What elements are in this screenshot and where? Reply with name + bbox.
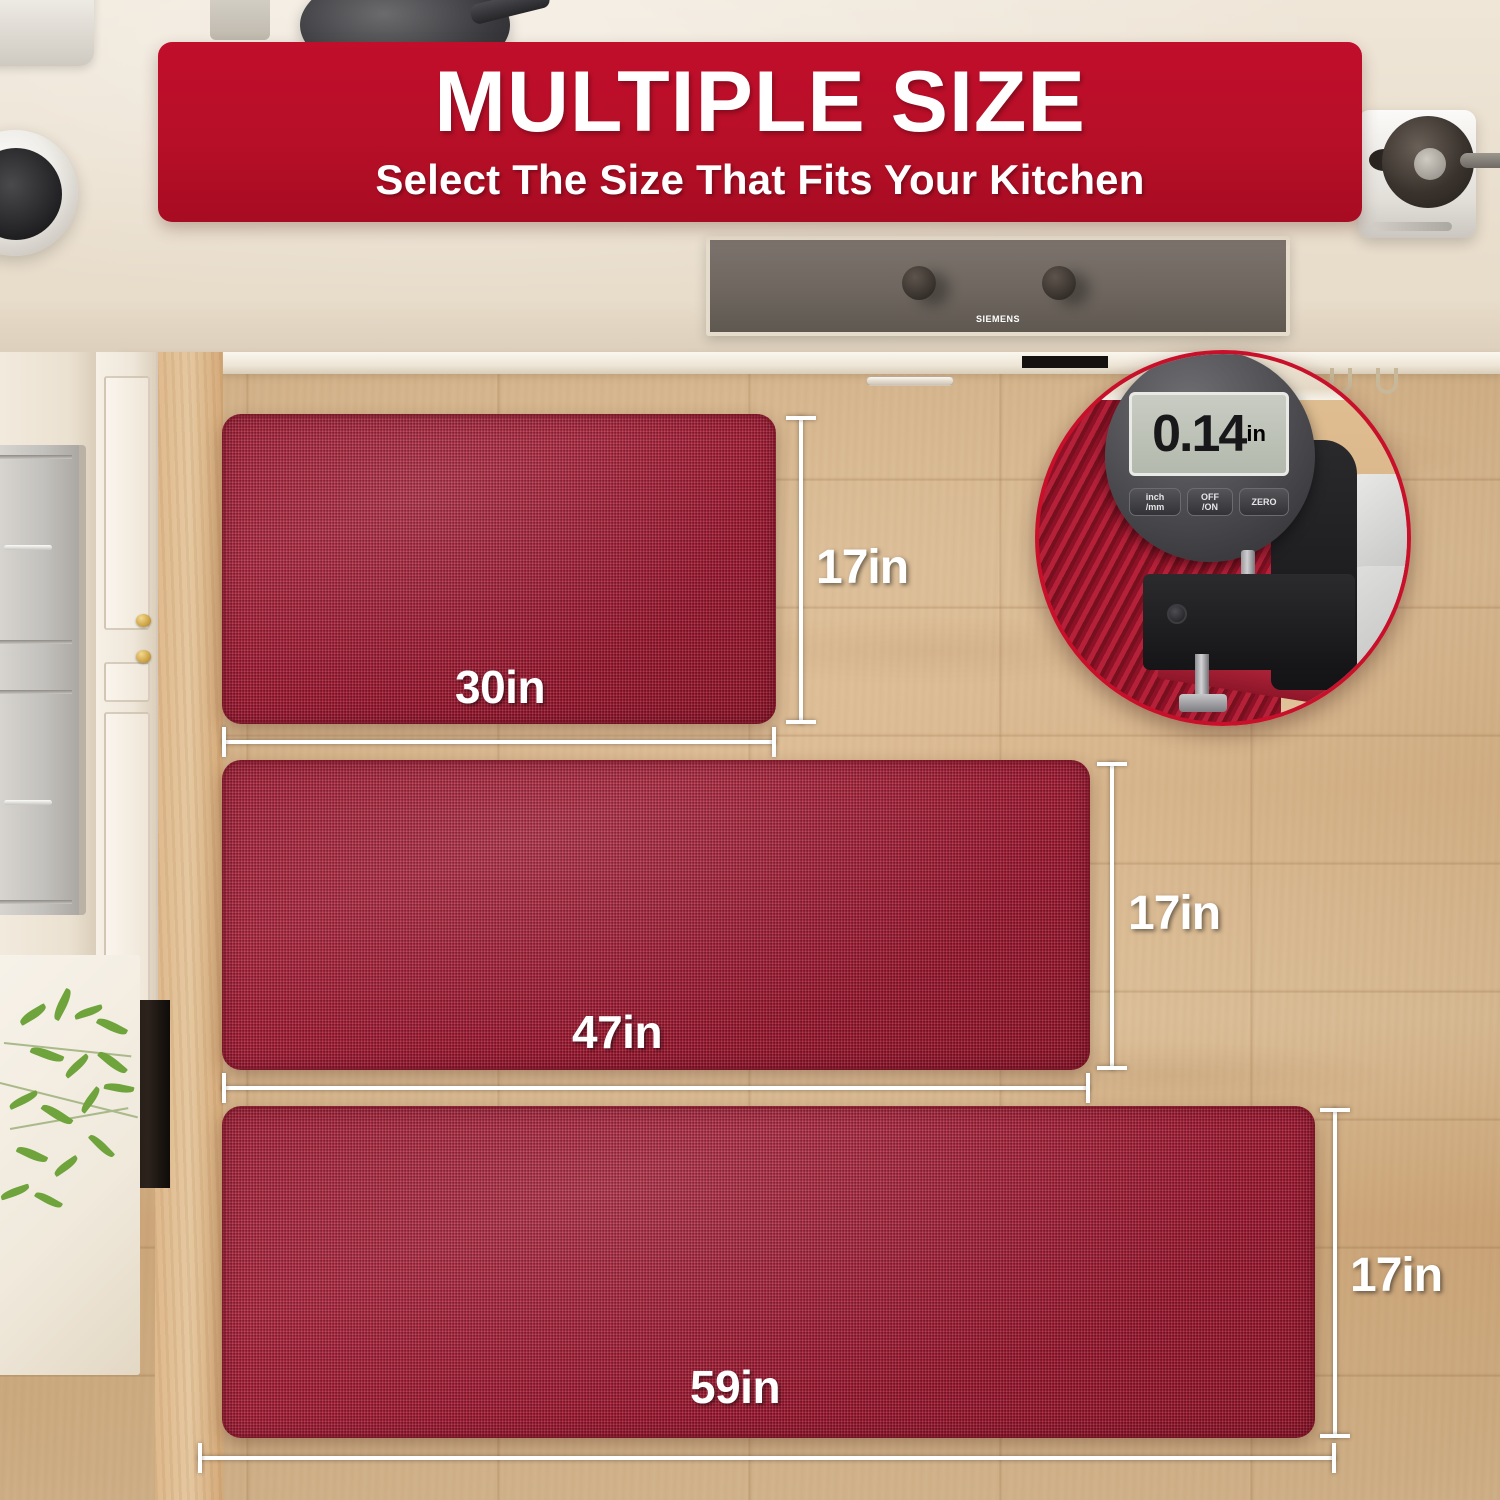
dimension-label-height-small: 17in [816, 540, 908, 595]
dimension-line-vertical-medium [1110, 762, 1114, 1070]
gauge-button-off-on[interactable]: OFF /ON [1187, 488, 1233, 516]
cabinet-knob [136, 650, 151, 663]
dimension-line-horizontal-large [198, 1456, 1336, 1460]
white-bowl [0, 0, 94, 66]
cooktop-knob [1042, 266, 1076, 300]
appliance-seam [0, 640, 72, 644]
thickness-gauge-display: 0.14 in [1129, 392, 1289, 476]
cabinet-panel [104, 662, 150, 702]
thickness-value: 0.14 [1152, 408, 1245, 460]
banner-title: MULTIPLE SIZE [434, 60, 1086, 144]
product-infographic: SIEMENS 30in 17in 47in 17in 59in [0, 0, 1500, 1500]
appliance-seam [0, 900, 72, 904]
cooktop-knob [902, 266, 936, 300]
gauge-anvil [1179, 694, 1227, 712]
appliance-seam [0, 690, 72, 694]
cabinet-knob [136, 614, 151, 627]
cooktop-brand-label: SIEMENS [710, 314, 1286, 324]
appliance-seam [0, 455, 72, 459]
mat-width-label-small: 30in [455, 660, 545, 714]
kettle-handle [1460, 153, 1500, 168]
thickness-unit: in [1246, 421, 1266, 447]
cabinet-panel [104, 376, 150, 630]
appliance-handle [4, 800, 52, 805]
gauge-screw-icon [1167, 604, 1187, 624]
thickness-detail-inset: 0.14 in inch /mm OFF /ON ZERO [1035, 350, 1411, 726]
stainless-steel-appliance [0, 445, 86, 915]
gauge-button-line2: /ON [1202, 502, 1218, 512]
gauge-button-line1: inch [1146, 492, 1165, 502]
cabinet-handle [866, 376, 954, 386]
gauge-button-inch-mm[interactable]: inch /mm [1129, 488, 1181, 516]
dimension-line-horizontal-medium [222, 1086, 1090, 1090]
utensil-holder [210, 0, 270, 40]
mat-width-label-large: 59in [690, 1360, 780, 1414]
floor-transition-strip [155, 352, 223, 1500]
dimension-label-height-medium: 17in [1128, 886, 1220, 941]
appliance-handle [4, 545, 52, 550]
banner-subtitle: Select The Size That Fits Your Kitchen [375, 156, 1144, 204]
gauge-button-line1: ZERO [1251, 497, 1276, 507]
cooktop: SIEMENS [706, 236, 1290, 336]
dimension-line-horizontal-small [222, 740, 776, 744]
kettle-lid-cap [1414, 148, 1446, 180]
dimension-label-height-large: 17in [1350, 1248, 1442, 1303]
gauge-button-line2: /mm [1146, 502, 1165, 512]
gauge-button-zero[interactable]: ZERO [1239, 488, 1289, 516]
header-banner: MULTIPLE SIZE Select The Size That Fits … [158, 42, 1362, 222]
kettle-base-indicator [1372, 222, 1452, 231]
gauge-button-line1: OFF [1201, 492, 1219, 502]
dimension-line-vertical-small [799, 416, 803, 724]
mat-width-label-medium: 47in [572, 1005, 662, 1059]
dimension-line-vertical-large [1333, 1108, 1337, 1438]
